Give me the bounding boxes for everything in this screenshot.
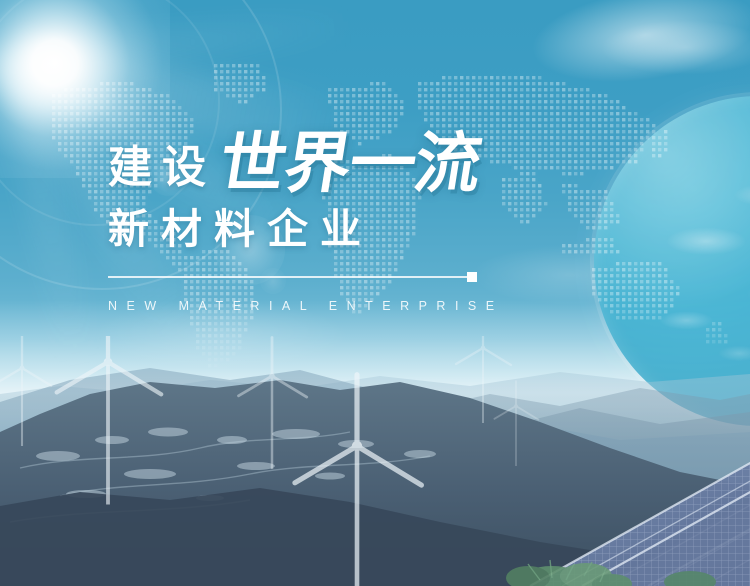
headline-secondary: 新材料企业	[108, 209, 528, 250]
snow-patches	[36, 428, 436, 502]
earth-globe-icon	[594, 96, 750, 426]
headline-primary: 建设 世界一流	[108, 132, 528, 195]
earth-globe-rim	[590, 92, 750, 430]
headline-prefix: 建设	[108, 146, 216, 195]
cloud	[600, 20, 750, 75]
wind-turbines	[0, 336, 538, 586]
mountain-range	[0, 380, 750, 586]
wind-turbine	[57, 336, 162, 505]
mountain-foreground	[0, 488, 750, 586]
wind-turbine	[239, 338, 307, 469]
wind-turbine	[295, 375, 422, 586]
sun-ray	[0, 42, 99, 373]
mountain-mid	[360, 408, 750, 586]
wind-turbine	[494, 381, 538, 466]
mountain-mid	[0, 368, 750, 586]
mountain-far	[420, 388, 750, 586]
foliage	[506, 560, 716, 586]
landscape-photo	[0, 336, 750, 586]
divider-end-cap	[467, 272, 477, 282]
divider	[108, 276, 474, 278]
eyebrow-text: NEW MATERIAL ENTERPRISE	[108, 299, 528, 313]
sun-ray	[30, 8, 362, 76]
cloud	[525, 0, 750, 96]
mountain-far	[0, 372, 750, 586]
hero-banner: 建设 世界一流 新材料企业 NEW MATERIAL ENTERPRISE	[0, 0, 750, 586]
wind-turbine	[456, 336, 511, 423]
ridge-trails	[10, 432, 430, 522]
horizon-haze	[0, 300, 750, 450]
solar-panel-array	[530, 452, 750, 586]
wind-turbine	[0, 336, 51, 446]
headline-emphasis: 世界一流	[215, 132, 485, 195]
hero-text-block: 建设 世界一流 新材料企业 NEW MATERIAL ENTERPRISE	[108, 132, 528, 313]
